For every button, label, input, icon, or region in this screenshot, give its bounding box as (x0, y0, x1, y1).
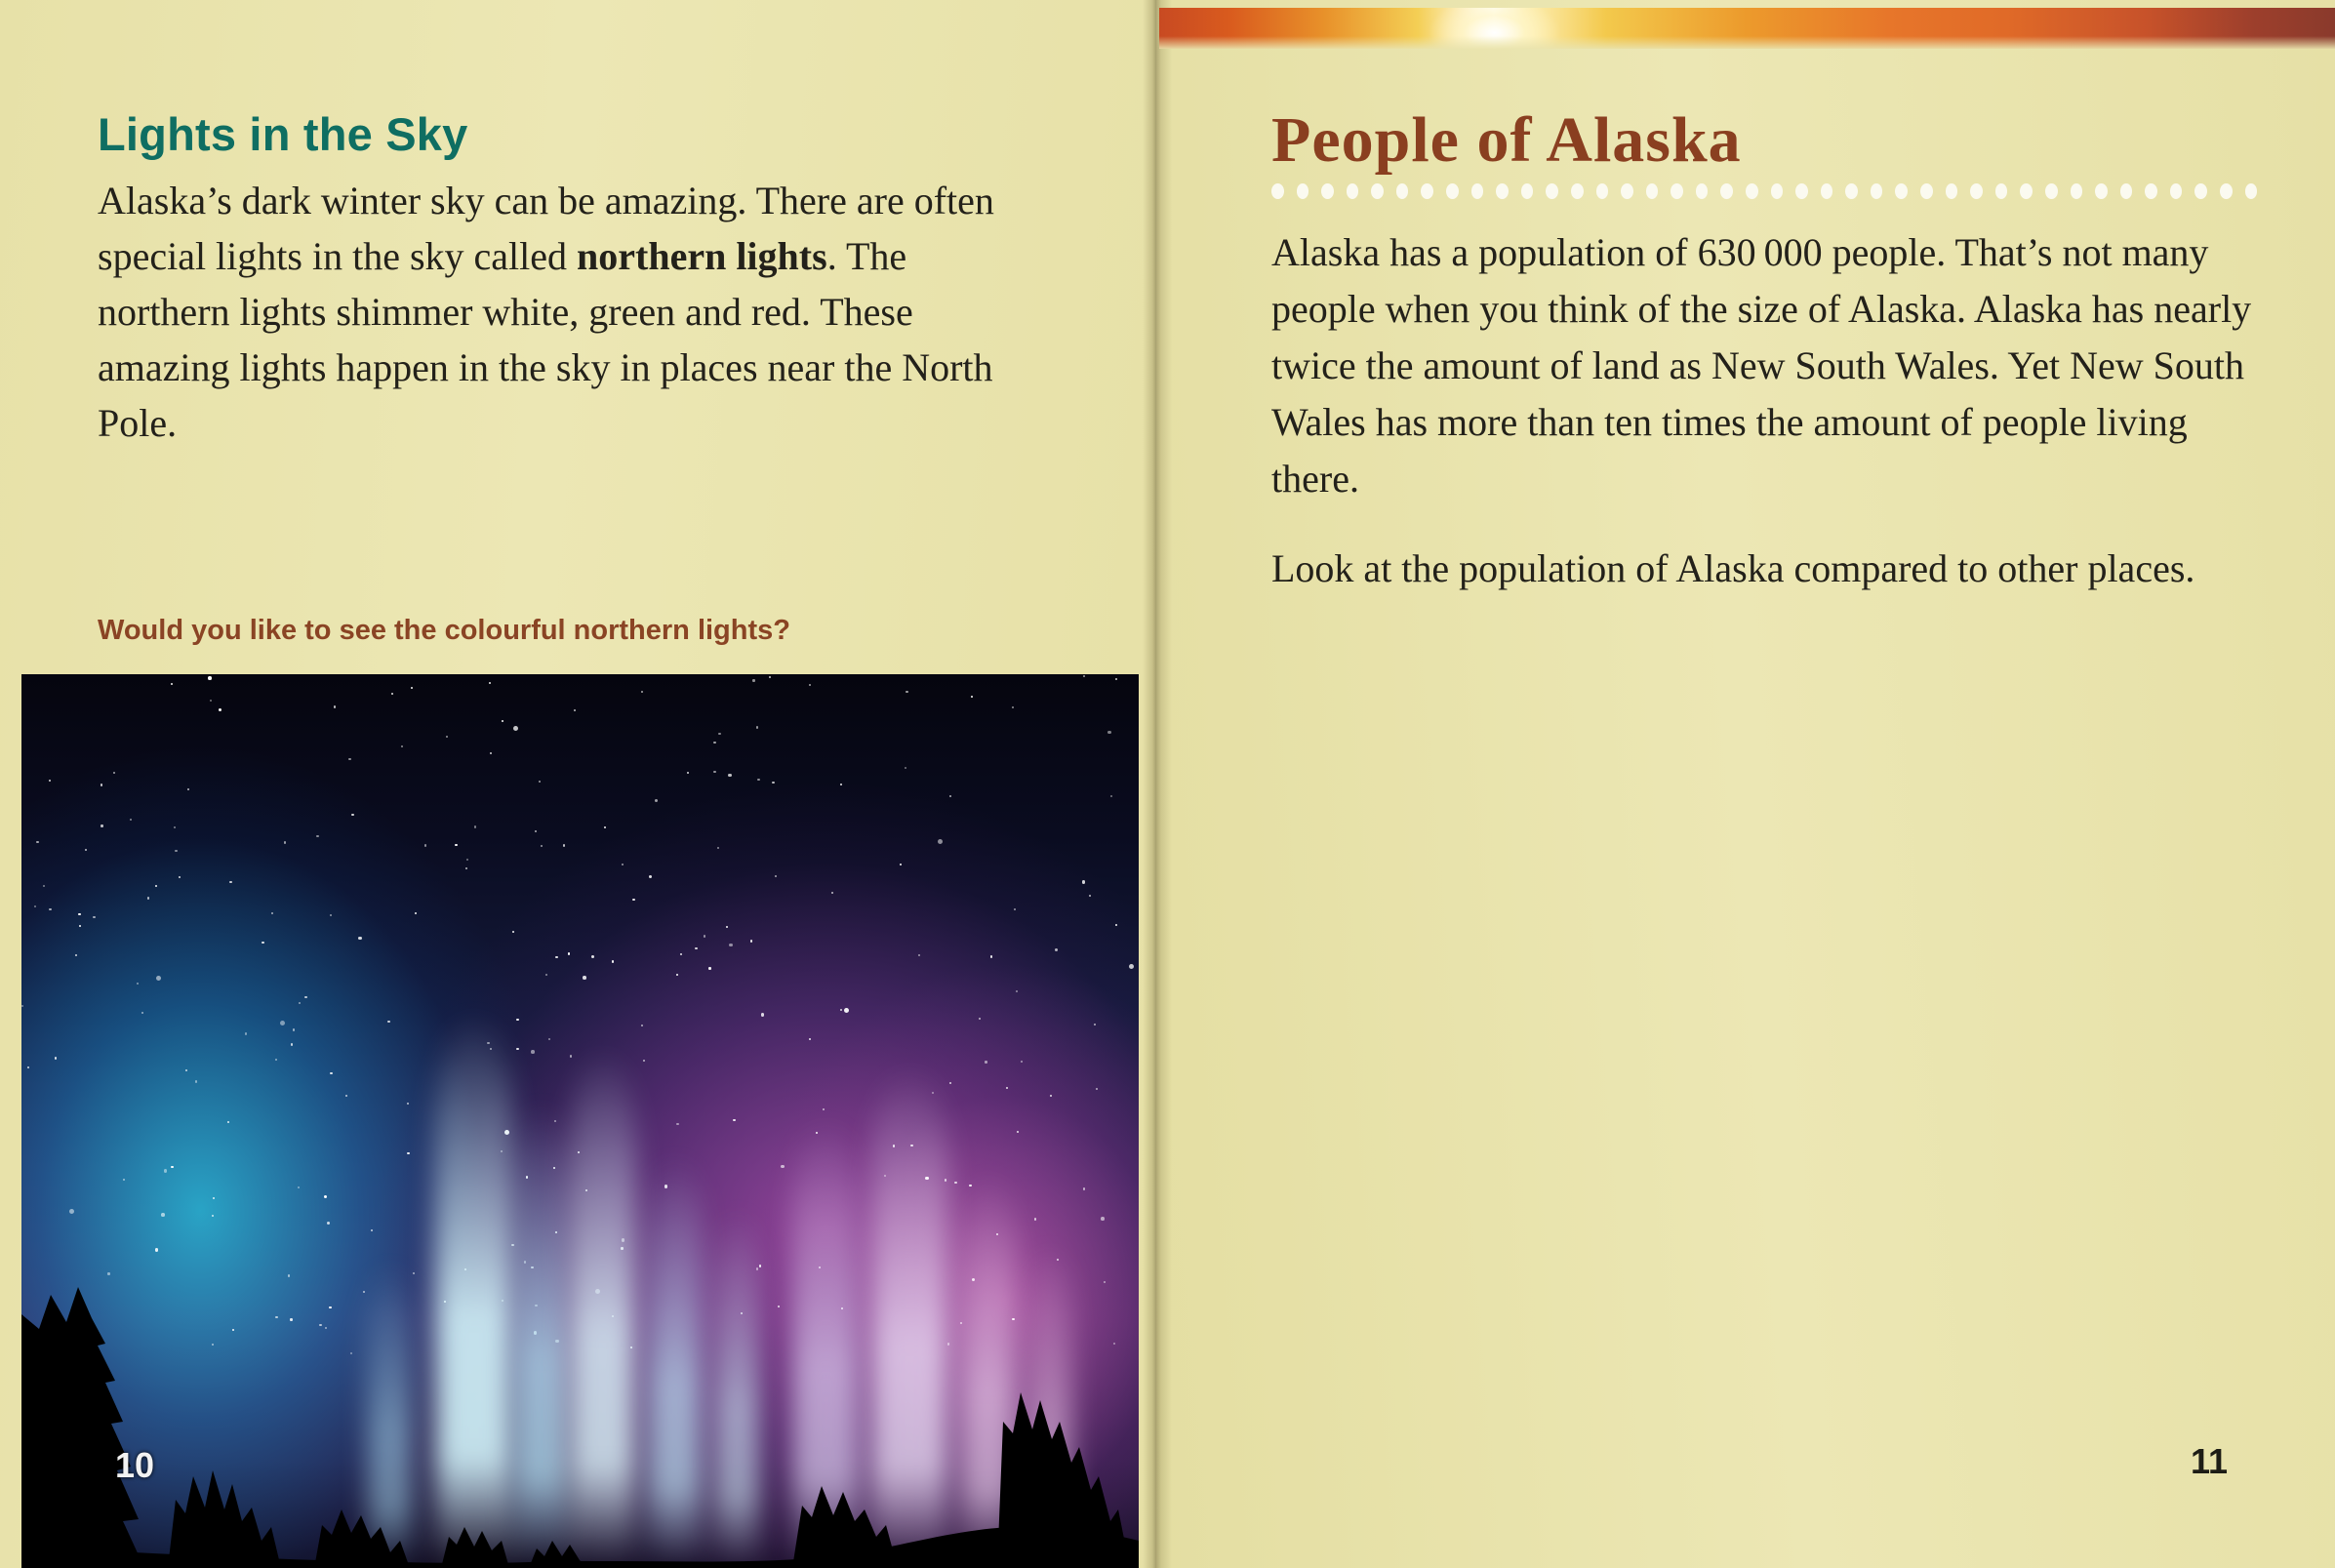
divider-dot (2170, 183, 2183, 199)
divider-dot (1746, 183, 1758, 199)
divider-dot (2120, 183, 2133, 199)
right-page-body: Alaska has a population of 630 000 peopl… (1271, 224, 2281, 630)
divider-dot (1970, 183, 1983, 199)
left-page: Lights in the Sky Alaska’s dark winter s… (0, 0, 1156, 1568)
divider-dot (1671, 183, 1683, 199)
right-paragraph-1: Alaska has a population of 630 000 peopl… (1271, 224, 2281, 507)
divider-dot (1995, 183, 2008, 199)
divider-dot (1571, 183, 1584, 199)
divider-dot (2245, 183, 2258, 199)
aurora-photo: 10 (21, 674, 1139, 1568)
divider-dot (1421, 183, 1433, 199)
divider-dot (1920, 183, 1933, 199)
divider-dot (1795, 183, 1808, 199)
divider-dot (1895, 183, 1908, 199)
divider-dot (1496, 183, 1509, 199)
divider-dot (1371, 183, 1384, 199)
dotted-divider (1271, 183, 2257, 199)
left-page-paragraph: Alaska’s dark winter sky can be amazing.… (98, 173, 1034, 451)
sunset-banner (1159, 8, 2335, 49)
right-page-title: People of Alaska (1271, 103, 1742, 178)
divider-dot (1297, 183, 1309, 199)
divider-dot (1946, 183, 1958, 199)
divider-dot (1521, 183, 1534, 199)
page-number-left: 10 (115, 1445, 154, 1486)
paragraph-bold-term: northern lights (577, 234, 827, 278)
divider-dot (1621, 183, 1633, 199)
divider-dot (1821, 183, 1833, 199)
divider-dot (1771, 183, 1784, 199)
right-page: People of Alaska Alaska has a population… (1156, 0, 2335, 1568)
divider-dot (2095, 183, 2108, 199)
divider-dot (1646, 183, 1659, 199)
right-paragraph-2: Look at the population of Alaska compare… (1271, 541, 2281, 597)
divider-dot (1845, 183, 1858, 199)
divider-dot (2020, 183, 2033, 199)
tree-silhouettes (21, 1275, 1139, 1568)
divider-dot (1396, 183, 1409, 199)
left-page-heading: Lights in the Sky (98, 107, 1015, 161)
divider-dot (1446, 183, 1459, 199)
divider-dot (2045, 183, 2058, 199)
left-page-question: Would you like to see the colourful nort… (98, 615, 1073, 647)
book-spread: Lights in the Sky Alaska’s dark winter s… (0, 0, 2335, 1568)
divider-dot (1596, 183, 1609, 199)
divider-dot (1271, 183, 1284, 199)
divider-dot (1321, 183, 1334, 199)
divider-dot (1696, 183, 1709, 199)
divider-dot (1871, 183, 1883, 199)
divider-dot (2194, 183, 2207, 199)
divider-dot (2071, 183, 2083, 199)
divider-dot (1546, 183, 1558, 199)
divider-dot (2145, 183, 2157, 199)
divider-dot (2220, 183, 2233, 199)
divider-dot (1347, 183, 1359, 199)
page-number-right: 11 (2191, 1441, 2228, 1482)
sunset-bottom-fade (1159, 36, 2335, 49)
divider-dot (1471, 183, 1484, 199)
divider-dot (1720, 183, 1733, 199)
